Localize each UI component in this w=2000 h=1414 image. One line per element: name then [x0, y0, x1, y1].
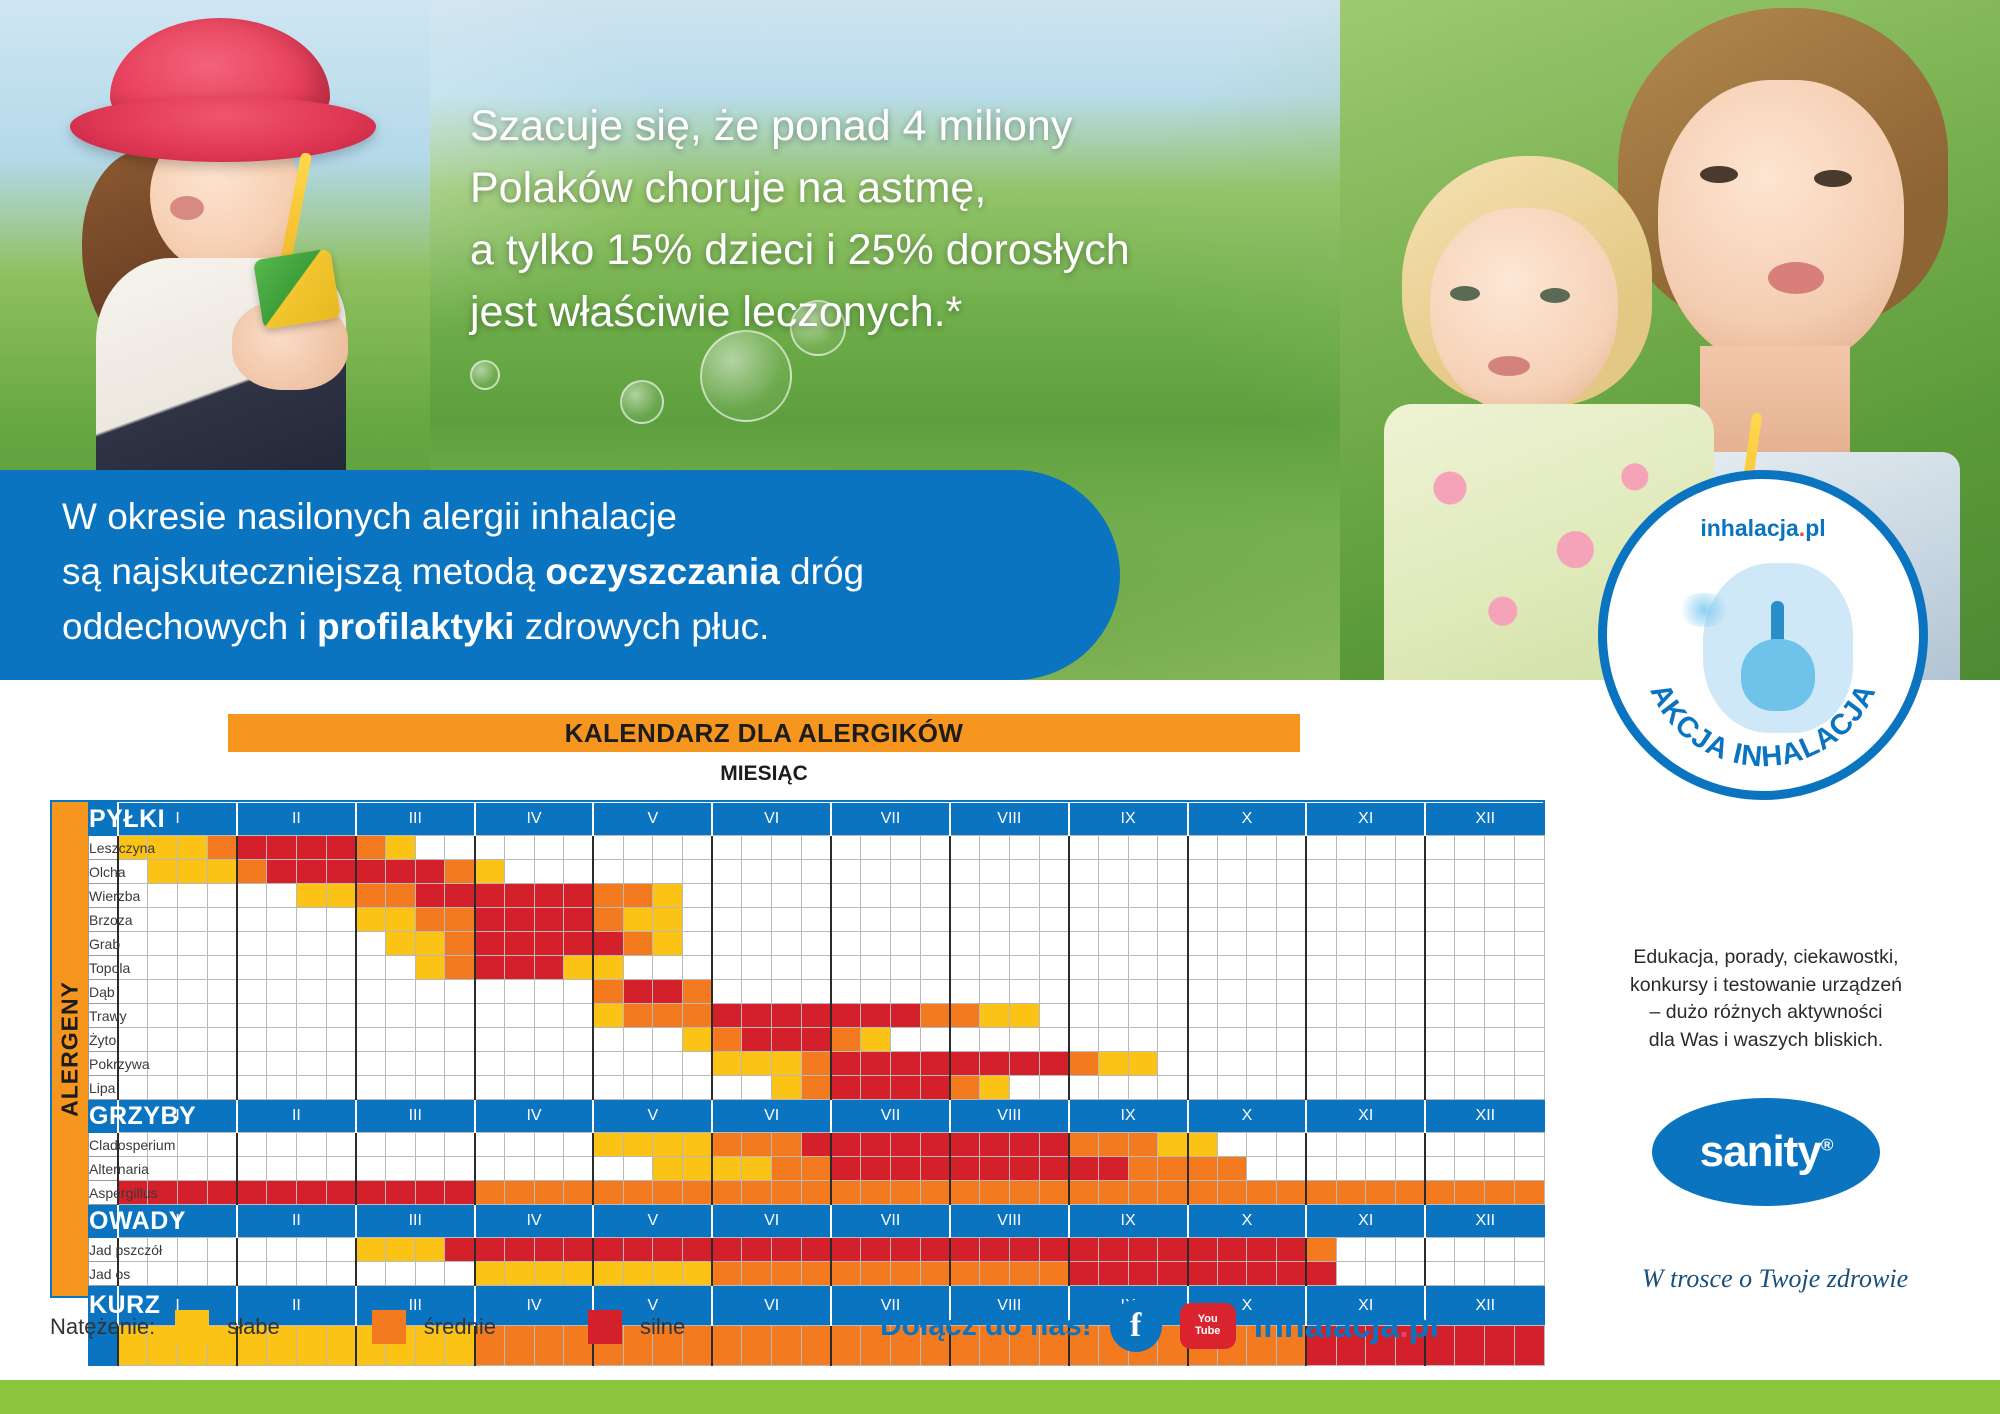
intensity-cell	[950, 836, 980, 860]
intensity-cell	[861, 860, 891, 884]
intensity-cell	[1366, 884, 1396, 908]
sanity-brand: sanity	[1700, 1127, 1821, 1176]
intensity-cell	[178, 1028, 208, 1052]
intensity-cell	[1009, 1076, 1039, 1100]
intensity-cell	[504, 1133, 534, 1157]
intensity-cell	[504, 860, 534, 884]
intensity-cell	[356, 1181, 386, 1205]
intensity-cell	[1188, 1238, 1218, 1262]
intensity-cell	[148, 1052, 178, 1076]
intensity-cell	[1039, 1133, 1069, 1157]
intensity-cell	[564, 860, 594, 884]
intensity-cell	[1069, 956, 1099, 980]
intensity-cell	[1098, 1133, 1128, 1157]
intensity-cell	[980, 1181, 1010, 1205]
intensity-cell	[772, 1157, 802, 1181]
intensity-cell	[1425, 836, 1455, 860]
cta-url[interactable]: inhalacja.pl	[1254, 1307, 1439, 1346]
intensity-cell	[237, 1262, 267, 1286]
intensity-cell	[1039, 1028, 1069, 1052]
intensity-cell	[772, 836, 802, 860]
intensity-cell	[890, 1181, 920, 1205]
intensity-cell	[356, 1157, 386, 1181]
intensity-cell	[653, 1238, 683, 1262]
intensity-cell	[772, 860, 802, 884]
cta-url-dot: .	[1399, 1307, 1408, 1345]
month-header-XII: XII	[1425, 1286, 1544, 1326]
intensity-cell	[712, 860, 742, 884]
intensity-cell	[386, 1076, 416, 1100]
intensity-cell	[1425, 1181, 1455, 1205]
intensity-cell	[861, 932, 891, 956]
intensity-cell	[1247, 1004, 1277, 1028]
intensity-cell	[980, 980, 1010, 1004]
intensity-cell	[1514, 836, 1544, 860]
intensity-cell	[1158, 1028, 1188, 1052]
intensity-cell	[326, 860, 356, 884]
intensity-cell	[1336, 1262, 1366, 1286]
intensity-cell	[1485, 836, 1515, 860]
intensity-cell	[683, 1238, 713, 1262]
intensity-cell	[1247, 1076, 1277, 1100]
intensity-cell	[1247, 908, 1277, 932]
intensity-cell	[178, 956, 208, 980]
intensity-cell	[1366, 1181, 1396, 1205]
intensity-cell	[1366, 1076, 1396, 1100]
intensity-cell	[1039, 1157, 1069, 1181]
intensity-cell	[801, 980, 831, 1004]
intensity-cell	[1485, 1133, 1515, 1157]
intensity-cell	[1455, 1076, 1485, 1100]
intensity-cell	[623, 1262, 653, 1286]
intensity-cell	[386, 1133, 416, 1157]
intensity-cell	[831, 956, 861, 980]
month-header-VI: VI	[712, 803, 831, 836]
row-label: Żyto	[89, 1028, 119, 1052]
intensity-cell	[1277, 860, 1307, 884]
photo-girl-blowing-bubbles	[0, 0, 430, 530]
intensity-cell	[1514, 908, 1544, 932]
intensity-cell	[296, 932, 326, 956]
intensity-cell	[1217, 956, 1247, 980]
allergens-side-label: ALERGENY	[52, 802, 88, 1296]
intensity-cell	[504, 1076, 534, 1100]
intensity-cell	[564, 1157, 594, 1181]
intensity-cell	[950, 1157, 980, 1181]
intensity-cell	[1069, 932, 1099, 956]
intensity-cell	[980, 1052, 1010, 1076]
intensity-cell	[920, 1004, 950, 1028]
intensity-cell	[1009, 908, 1039, 932]
intensity-cell	[1366, 1133, 1396, 1157]
row-label: Alternaria	[89, 1157, 119, 1181]
intensity-cell	[267, 908, 297, 932]
intensity-cell	[1247, 1181, 1277, 1205]
cta-text: Dołącz do nas!	[880, 1309, 1092, 1343]
intensity-cell	[356, 1238, 386, 1262]
intensity-cell	[564, 1052, 594, 1076]
intensity-cell	[980, 1157, 1010, 1181]
intensity-cell	[118, 1028, 148, 1052]
intensity-cell	[1455, 1157, 1485, 1181]
intensity-cell	[653, 860, 683, 884]
intensity-cell	[1455, 1004, 1485, 1028]
intensity-cell	[861, 1181, 891, 1205]
intensity-cell	[415, 884, 445, 908]
intensity-cell	[326, 1004, 356, 1028]
intensity-cell	[356, 1133, 386, 1157]
intensity-cell	[504, 1028, 534, 1052]
intensity-cell	[1158, 1157, 1188, 1181]
intensity-cell	[1188, 1004, 1218, 1028]
intensity-cell	[237, 1157, 267, 1181]
intensity-cell	[475, 1181, 505, 1205]
intensity-cell	[742, 1157, 772, 1181]
intensity-cell	[148, 1262, 178, 1286]
intensity-cell	[534, 1052, 564, 1076]
intensity-cell	[1039, 884, 1069, 908]
banner-line-1: W okresie nasilonych alergii inhalacje	[62, 496, 677, 537]
intensity-cell	[1039, 932, 1069, 956]
intensity-cell	[950, 860, 980, 884]
intensity-cell	[712, 1028, 742, 1052]
intensity-cell	[742, 884, 772, 908]
intensity-cell	[356, 932, 386, 956]
legend-label: Natężenie:	[50, 1314, 155, 1340]
intensity-cell	[326, 1181, 356, 1205]
facebook-icon[interactable]: f	[1110, 1300, 1162, 1352]
intensity-cell	[148, 908, 178, 932]
intensity-cell	[861, 956, 891, 980]
intensity-cell	[712, 1133, 742, 1157]
intensity-cell	[296, 836, 326, 860]
intensity-cell	[148, 1076, 178, 1100]
intensity-cell	[504, 932, 534, 956]
table-row: Brzoza	[89, 908, 1545, 932]
intensity-cell	[475, 1076, 505, 1100]
intensity-cell	[653, 1262, 683, 1286]
intensity-cell	[415, 1157, 445, 1181]
intensity-cell	[890, 932, 920, 956]
intensity-cell	[772, 1052, 802, 1076]
row-label: Topola	[89, 956, 119, 980]
youtube-icon[interactable]: You Tube	[1180, 1303, 1236, 1349]
intensity-cell	[415, 1238, 445, 1262]
intensity-cell	[861, 1004, 891, 1028]
intensity-cell	[1277, 1028, 1307, 1052]
intensity-cell	[1039, 860, 1069, 884]
intensity-cell	[1455, 980, 1485, 1004]
intensity-cell	[1247, 932, 1277, 956]
intensity-cell	[980, 956, 1010, 980]
intensity-cell	[653, 1004, 683, 1028]
month-header-V: V	[593, 1100, 712, 1133]
intensity-cell	[1395, 1157, 1425, 1181]
intensity-cell	[504, 956, 534, 980]
intensity-cell	[950, 1052, 980, 1076]
intensity-cell	[772, 980, 802, 1004]
intensity-cell	[1306, 980, 1336, 1004]
intensity-cell	[772, 1262, 802, 1286]
intensity-cell	[1455, 1028, 1485, 1052]
intensity-cell	[1277, 1052, 1307, 1076]
intensity-cell	[980, 1133, 1010, 1157]
intensity-cell	[653, 1133, 683, 1157]
intensity-cell	[1188, 1157, 1218, 1181]
intensity-cell	[801, 1157, 831, 1181]
intensity-cell	[207, 1133, 237, 1157]
intensity-cell	[1217, 908, 1247, 932]
intensity-cell	[1217, 1238, 1247, 1262]
intensity-cell	[534, 1157, 564, 1181]
intensity-cell	[1128, 1181, 1158, 1205]
month-header-VI: VI	[712, 1205, 831, 1238]
intensity-cell	[475, 932, 505, 956]
intensity-cell	[1277, 836, 1307, 860]
row-label: Leszczyna	[89, 836, 119, 860]
intensity-cell	[504, 884, 534, 908]
intensity-cell	[742, 1133, 772, 1157]
month-header-X: X	[1188, 803, 1307, 836]
intensity-cell	[267, 956, 297, 980]
intensity-cell	[1069, 1262, 1099, 1286]
month-header-XII: XII	[1425, 1205, 1544, 1238]
month-header-VIII: VIII	[950, 1100, 1069, 1133]
intensity-cell	[504, 1238, 534, 1262]
intensity-cell	[415, 1181, 445, 1205]
intensity-cell	[950, 908, 980, 932]
legend-text-strong: silne	[640, 1314, 685, 1340]
intensity-cell	[1277, 908, 1307, 932]
legend-item-weak: słabe	[175, 1310, 280, 1344]
calendar-group-header-row: GRZYBYIIIIIIIVVVIVIIVIIIIXXXIXII	[89, 1100, 1545, 1133]
intensity-cell	[1128, 1238, 1158, 1262]
intensity-cell	[564, 1076, 594, 1100]
intensity-cell	[1306, 1004, 1336, 1028]
intensity-cell	[326, 1238, 356, 1262]
intensity-cell	[1188, 980, 1218, 1004]
month-header-II: II	[237, 1100, 356, 1133]
intensity-cell	[1069, 1052, 1099, 1076]
intensity-cell	[207, 836, 237, 860]
intensity-cell	[1158, 884, 1188, 908]
intensity-cell	[1188, 1133, 1218, 1157]
intensity-cell	[1009, 1004, 1039, 1028]
intensity-cell	[1128, 1052, 1158, 1076]
intensity-cell	[534, 908, 564, 932]
intensity-cell	[445, 1262, 475, 1286]
intensity-cell	[1336, 932, 1366, 956]
intensity-cell	[1425, 956, 1455, 980]
intensity-cell	[801, 1181, 831, 1205]
group-label-pyłki: PYŁKI	[89, 803, 119, 836]
intensity-cell	[207, 1238, 237, 1262]
intensity-cell	[742, 1028, 772, 1052]
intensity-cell	[861, 1133, 891, 1157]
intensity-cell	[742, 1076, 772, 1100]
intensity-cell	[326, 980, 356, 1004]
intensity-cell	[1425, 1262, 1455, 1286]
intensity-cell	[1128, 908, 1158, 932]
intensity-cell	[564, 932, 594, 956]
intensity-cell	[831, 1238, 861, 1262]
intensity-cell	[445, 836, 475, 860]
intensity-cell	[237, 860, 267, 884]
intensity-cell	[1039, 836, 1069, 860]
intensity-cell	[920, 956, 950, 980]
intensity-cell	[1247, 1157, 1277, 1181]
calendar-group-header-row: OWADYIIIIIIIVVVIVIIVIIIIXXXIXII	[89, 1205, 1545, 1238]
intensity-cell	[1098, 1052, 1128, 1076]
intensity-cell	[890, 1133, 920, 1157]
youtube-line2: Tube	[1195, 1326, 1220, 1338]
intensity-cell	[1395, 932, 1425, 956]
intensity-cell	[475, 1262, 505, 1286]
intensity-cell	[207, 1052, 237, 1076]
intensity-cell	[534, 1181, 564, 1205]
intensity-cell	[593, 884, 623, 908]
intensity-cell	[207, 1076, 237, 1100]
intensity-cell	[1425, 980, 1455, 1004]
intensity-cell	[356, 1004, 386, 1028]
intensity-cell	[564, 1262, 594, 1286]
intensity-cell	[445, 1181, 475, 1205]
intensity-cell	[1306, 1181, 1336, 1205]
intensity-cell	[1158, 1052, 1188, 1076]
intensity-cell	[534, 1262, 564, 1286]
intensity-cell	[1306, 932, 1336, 956]
month-header-XI: XI	[1306, 803, 1425, 836]
intensity-cell	[1039, 1238, 1069, 1262]
intensity-cell	[1306, 1262, 1336, 1286]
intensity-cell	[1485, 980, 1515, 1004]
intensity-cell	[593, 860, 623, 884]
intensity-cell	[1514, 1326, 1544, 1366]
intensity-cell	[653, 884, 683, 908]
intensity-cell	[1009, 1262, 1039, 1286]
intensity-cell	[296, 1157, 326, 1181]
intensity-cell	[623, 1004, 653, 1028]
intensity-cell	[1336, 884, 1366, 908]
intensity-cell	[920, 932, 950, 956]
intensity-cell	[1098, 908, 1128, 932]
intensity-cell	[1514, 980, 1544, 1004]
intensity-cell	[148, 932, 178, 956]
intensity-cell	[356, 884, 386, 908]
intensity-cell	[386, 956, 416, 980]
intensity-cell	[1217, 1004, 1247, 1028]
intensity-cell	[623, 1238, 653, 1262]
intensity-cell	[386, 884, 416, 908]
intensity-cell	[801, 908, 831, 932]
intensity-cell	[831, 1181, 861, 1205]
bubble-icon	[470, 360, 500, 390]
intensity-cell	[267, 1262, 297, 1286]
month-header-XII: XII	[1425, 1100, 1544, 1133]
intensity-cell	[1009, 1181, 1039, 1205]
intensity-cell	[534, 956, 564, 980]
row-label: Trawy	[89, 1004, 119, 1028]
intensity-cell	[326, 908, 356, 932]
intensity-cell	[890, 908, 920, 932]
intensity-cell	[1069, 908, 1099, 932]
banner-line-2c: dróg	[780, 551, 864, 592]
intensity-cell	[1514, 1076, 1544, 1100]
intensity-cell	[742, 980, 772, 1004]
intensity-cell	[1485, 1004, 1515, 1028]
intensity-cell	[920, 1262, 950, 1286]
intensity-cell	[1306, 908, 1336, 932]
intensity-cell	[1485, 1262, 1515, 1286]
intensity-cell	[1098, 1004, 1128, 1028]
intensity-cell	[1366, 1028, 1396, 1052]
row-label: Aspergillus	[89, 1181, 119, 1205]
intensity-cell	[445, 1004, 475, 1028]
intensity-cell	[1098, 836, 1128, 860]
intensity-cell	[1336, 1052, 1366, 1076]
intensity-cell	[1277, 1262, 1307, 1286]
intensity-cell	[1217, 1076, 1247, 1100]
intensity-cell	[1069, 1238, 1099, 1262]
intensity-cell	[950, 1181, 980, 1205]
intensity-cell	[415, 860, 445, 884]
intensity-cell	[564, 980, 594, 1004]
intensity-cell	[564, 836, 594, 860]
intensity-cell	[1247, 1052, 1277, 1076]
intensity-cell	[564, 1238, 594, 1262]
intensity-cell	[148, 980, 178, 1004]
intensity-cell	[890, 1076, 920, 1100]
intensity-cell	[742, 932, 772, 956]
intensity-cell	[1069, 884, 1099, 908]
intensity-cell	[980, 932, 1010, 956]
intensity-cell	[623, 980, 653, 1004]
intensity-cell	[1039, 1004, 1069, 1028]
table-row: Aspergillus	[89, 1181, 1545, 1205]
allergens-side-label-text: ALERGENY	[57, 981, 84, 1117]
intensity-cell	[178, 1157, 208, 1181]
intensity-cell	[1158, 1004, 1188, 1028]
intensity-cell	[1247, 1238, 1277, 1262]
intensity-cell	[267, 884, 297, 908]
intensity-cell	[148, 1157, 178, 1181]
legend-text-medium: średnie	[424, 1314, 496, 1340]
intensity-cell	[831, 836, 861, 860]
intensity-cell	[772, 884, 802, 908]
table-row: Alternaria	[89, 1157, 1545, 1181]
intensity-cell	[1395, 908, 1425, 932]
intensity-cell	[296, 1238, 326, 1262]
intensity-cell	[267, 1133, 297, 1157]
intensity-cell	[1069, 1028, 1099, 1052]
intensity-cell	[1217, 1028, 1247, 1052]
intensity-cell	[1455, 908, 1485, 932]
intensity-cell	[386, 1181, 416, 1205]
intensity-cell	[772, 1028, 802, 1052]
intensity-cell	[1455, 1133, 1485, 1157]
intensity-cell	[534, 860, 564, 884]
intensity-cell	[178, 1004, 208, 1028]
intensity-cell	[386, 860, 416, 884]
intensity-cell	[296, 884, 326, 908]
intensity-cell	[296, 860, 326, 884]
calendar-subtitle: MIESIĄC	[228, 762, 1300, 786]
intensity-cell	[890, 1004, 920, 1028]
intensity-cell	[950, 980, 980, 1004]
intensity-cell	[1128, 1133, 1158, 1157]
intensity-cell	[1247, 1133, 1277, 1157]
intensity-cell	[178, 932, 208, 956]
